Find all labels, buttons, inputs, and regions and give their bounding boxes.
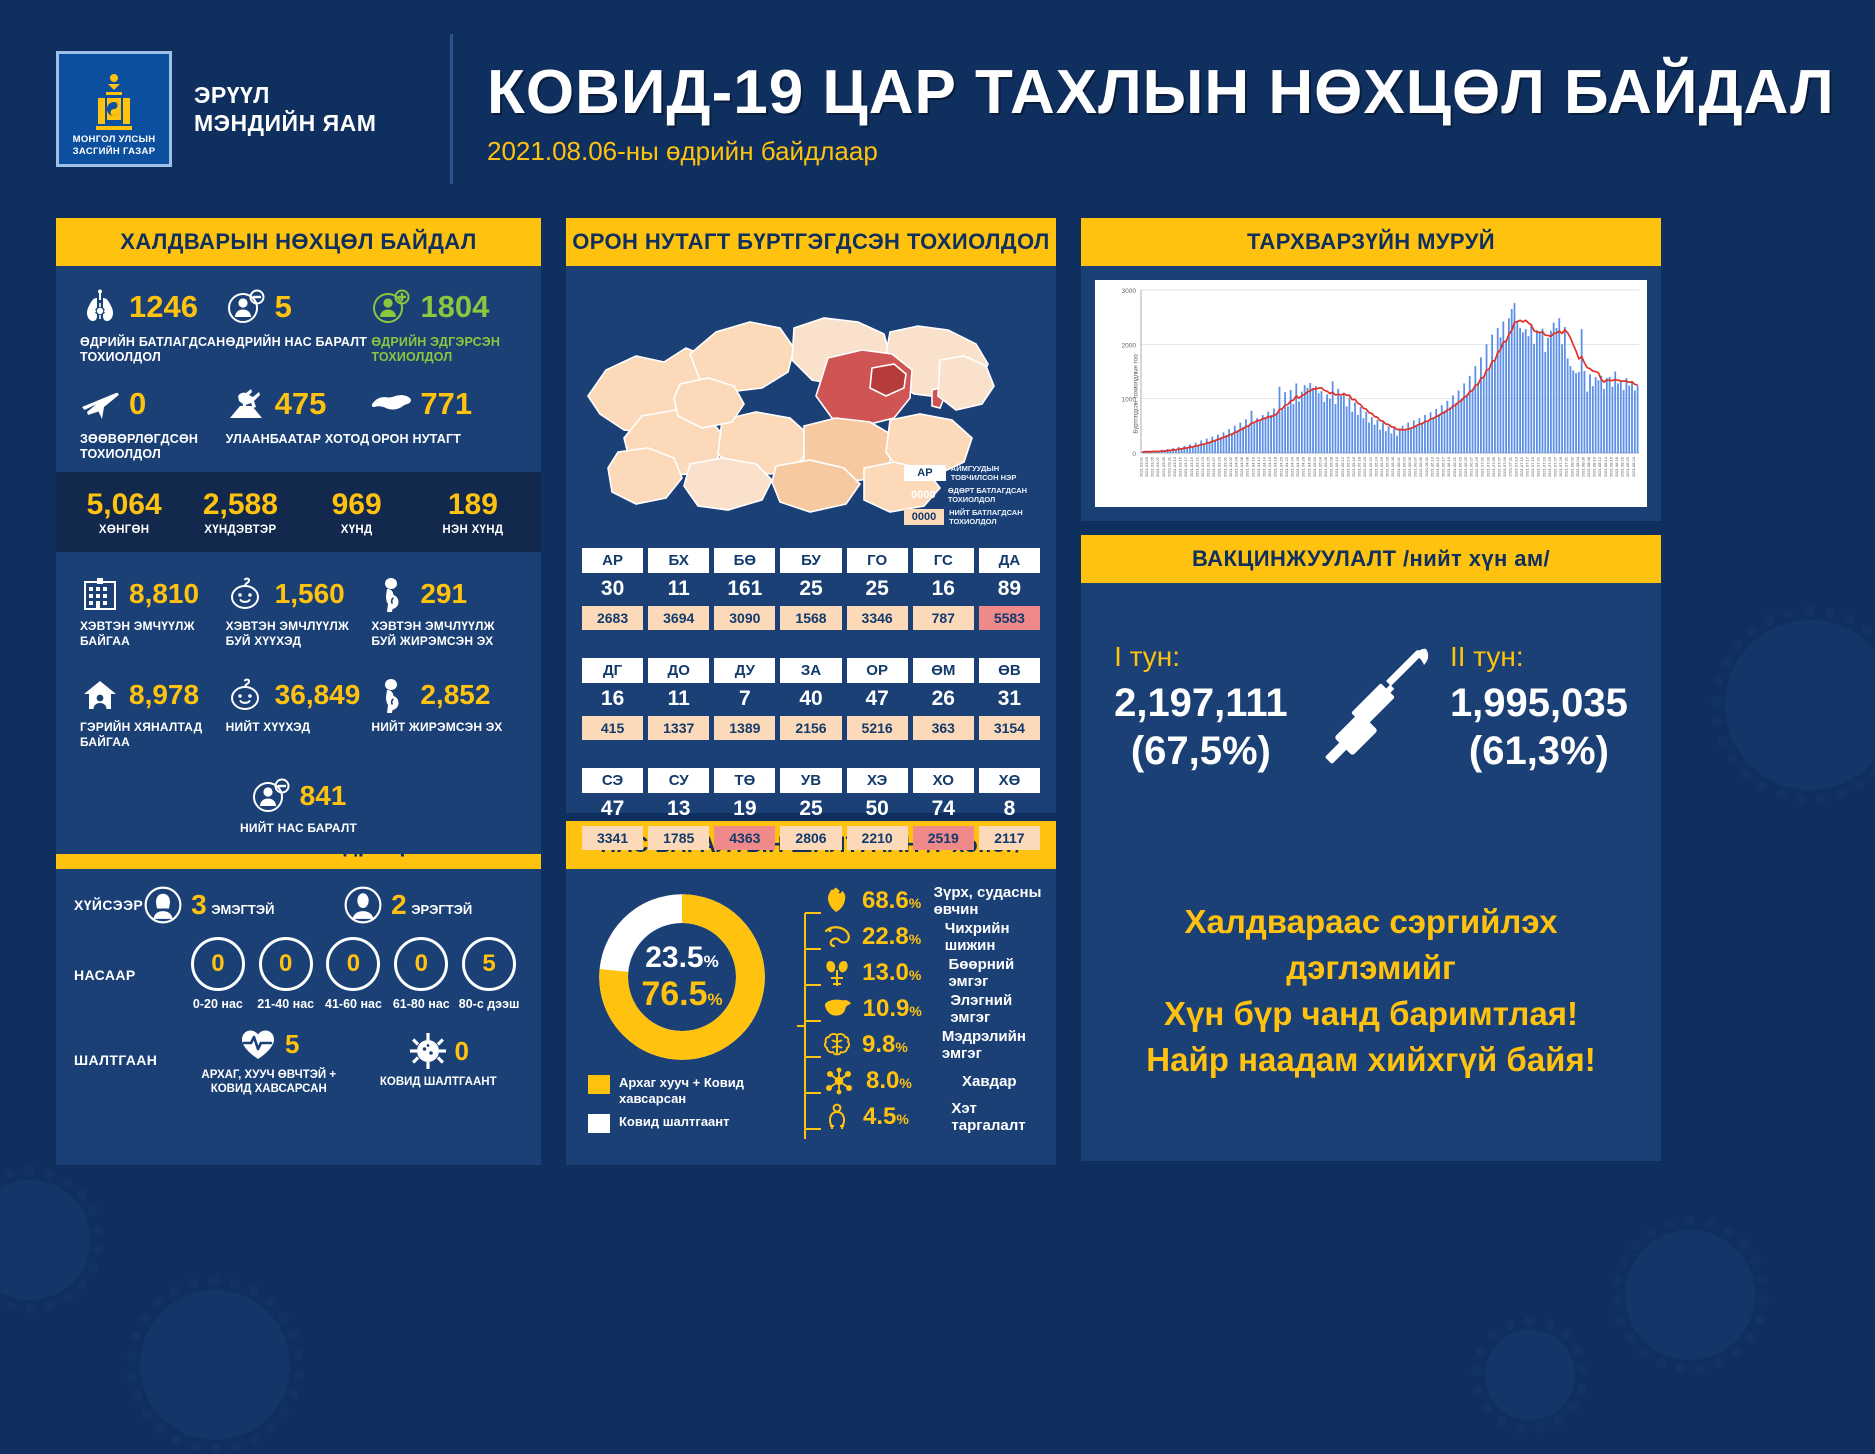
legend-row-total: 0000 НИЙТ БАТЛАГДСАН ТОХИОЛДОЛ	[904, 508, 1044, 526]
svg-text:2021.05.30: 2021.05.30	[1390, 456, 1395, 477]
donut-legend-label-covid: Ковид шалтгаант	[619, 1114, 730, 1130]
province-code: АР	[582, 548, 643, 573]
svg-text:2021.03.07: 2021.03.07	[1155, 456, 1160, 477]
dose-1-block: I тун: 2,197,111 (67,5%)	[1114, 641, 1288, 775]
ulaanbaatar-label: УЛААНБААТАР ХОТОД	[226, 432, 372, 447]
svg-text:2021.05.04: 2021.05.04	[1317, 456, 1322, 477]
person-recovered-icon	[371, 287, 411, 327]
province-total-cases: 4363	[714, 826, 775, 850]
province-code: ДО	[648, 658, 709, 683]
hospitalization-row-1: 8,810 ХЭВТЭН ЭМЧҮҮЛЖ БАЙГАА 1	[80, 574, 517, 649]
male-avatar-icon	[343, 885, 383, 925]
donut-comorbid-unit: %	[708, 990, 723, 1009]
province-daily-cases: 11	[648, 683, 709, 716]
svg-text:2021.03.23: 2021.03.23	[1200, 456, 1205, 477]
svg-text:2021.04.10: 2021.04.10	[1250, 456, 1255, 477]
province-daily-cases: 25	[847, 573, 908, 606]
svg-text:2021.03.17: 2021.03.17	[1183, 456, 1188, 477]
legend-chip-daily: 0000	[904, 487, 943, 503]
age-group-value: 0	[259, 937, 313, 991]
comorbidity-pct: 4.5%	[863, 1103, 941, 1131]
svg-text:2021.04.30: 2021.04.30	[1306, 456, 1311, 477]
svg-text:2021.07.07: 2021.07.07	[1497, 456, 1502, 477]
syringe-icon	[1294, 633, 1444, 783]
daily-confirmed-label: ӨДРИЙН БАТЛАГДСАН ТОХИОЛДОЛ	[80, 335, 226, 365]
provinces-value: 771	[420, 386, 472, 422]
age-group-label: 0-20 нас	[184, 997, 252, 1012]
deaths-male: 2 ЭРЭГТЭЙ	[343, 885, 543, 925]
age-group-value: 5	[462, 937, 516, 991]
ministry-name-line2: МЭНДИЙН ЯАМ	[194, 110, 376, 136]
severity-breakdown: 5,064 ХӨНГӨН 2,588 ХҮНДЭВТЭР 969 ХҮНД 18…	[56, 472, 541, 552]
svg-text:2021.06.27: 2021.06.27	[1469, 456, 1474, 477]
page-subtitle: 2021.08.06-ны өдрийн байдлаар	[487, 136, 1835, 167]
daily-recovered-value: 1804	[420, 289, 489, 325]
pregnant-woman-icon	[371, 574, 411, 614]
province-cell-ГО: ГО253346	[847, 548, 908, 630]
province-total-cases: 1568	[780, 606, 841, 630]
svg-text:2021.04.04: 2021.04.04	[1234, 456, 1239, 477]
svg-text:2021.04.22: 2021.04.22	[1284, 456, 1289, 477]
donut-covid-only-pct: 23.5%	[645, 941, 719, 975]
age-group-label: 80-с дээш	[455, 997, 523, 1012]
deaths-panel-body: ХҮЙСЭЭР 3 ЭМЭГТЭЙ	[56, 869, 541, 1165]
province-daily-cases: 8	[979, 793, 1040, 826]
severity-critical-value: 189	[415, 488, 531, 522]
age-group-value: 0	[191, 937, 245, 991]
infection-panel-title: ХАЛДВАРЫН НӨХЦӨЛ БАЙДАЛ	[56, 218, 541, 266]
donut-wrap: 23.5% 76.5% Архаг хууч + Ковид хавсарсан	[576, 883, 788, 1151]
province-daily-cases: 16	[582, 683, 643, 716]
province-total-cases: 3090	[714, 606, 775, 630]
svg-text:2021.07.17: 2021.07.17	[1524, 456, 1529, 477]
province-cell-ЗА: ЗА402156	[780, 658, 841, 740]
transported-value: 0	[129, 386, 146, 422]
daily-deaths-value: 5	[275, 289, 292, 325]
deaths-female-value: 3	[191, 889, 207, 920]
province-cell-ГС: ГС16787	[913, 548, 974, 630]
bracket-connector	[796, 897, 822, 1155]
age-group-value: 0	[326, 937, 380, 991]
donut-comorbid-value: 76.5	[641, 975, 707, 1013]
total-deaths-label: НИЙТ НАС БАРАЛТ	[194, 821, 404, 836]
donut-legend-item-covid: Ковид шалтгаант	[588, 1114, 788, 1133]
comorbidity-pct-unit: %	[896, 1111, 908, 1127]
province-total-cases: 5583	[979, 606, 1040, 630]
cancer-cells-icon	[822, 1066, 856, 1096]
province-code: ОР	[847, 658, 908, 683]
total-children-label: НИЙТ ХҮҮХЭД	[226, 720, 372, 735]
ministry-name: ЭРҮҮЛ МЭНДИЙН ЯАМ	[194, 81, 376, 137]
svg-text:2021.05.18: 2021.05.18	[1357, 456, 1362, 477]
liver-icon	[822, 994, 853, 1024]
province-total-cases: 3154	[979, 716, 1040, 740]
province-daily-cases: 40	[780, 683, 841, 716]
severity-severe: 969 ХҮНД	[299, 488, 415, 536]
svg-text:2021.06.01: 2021.06.01	[1396, 456, 1401, 477]
cause-comorbid-value: 5	[285, 1029, 299, 1060]
donut-legend-item-comorbid: Архаг хууч + Ковид хавсарсан	[588, 1075, 788, 1107]
svg-text:2021.05.26: 2021.05.26	[1379, 456, 1384, 477]
dashboard-grid: ХАЛДВАРЫН НӨХЦӨЛ БАЙДАЛ	[0, 218, 1875, 1161]
severity-mild-value: 5,064	[66, 488, 182, 522]
province-total-cases: 415	[582, 716, 643, 740]
svg-text:1000: 1000	[1122, 397, 1137, 404]
page-header: МОНГОЛ УЛСЫН ЗАСГИЙН ГАЗАР ЭРҮҮЛ МЭНДИЙН…	[0, 0, 1875, 218]
svg-text:2021.04.02: 2021.04.02	[1228, 456, 1233, 477]
stat-daily-recovered: 1804 ӨДРИЙН ЭДГЭРСЭН ТОХИОЛДОЛ	[371, 284, 517, 365]
svg-text:2021.05.24: 2021.05.24	[1373, 456, 1378, 477]
svg-text:2021.08.22: 2021.08.22	[1625, 456, 1630, 477]
public-message-panel: Халдвараас сэргийлэх дэглэмийг Хүн бүр ч…	[1081, 821, 1661, 1161]
svg-text:2021.08.04: 2021.08.04	[1575, 456, 1580, 477]
virus-gear-icon	[408, 1031, 448, 1071]
dose-2-value: 1,995,035	[1450, 679, 1628, 727]
comorbidity-items: 68.6%Зүрх, судасны өвчин22.8%Чихрийн шиж…	[822, 883, 1046, 1135]
svg-text:2021.03.11: 2021.03.11	[1166, 456, 1171, 476]
hosp-inpatient-label: ХЭВТЭН ЭМЧҮҮЛЖ БАЙГАА	[80, 619, 226, 649]
province-cell-ӨМ: ӨМ26363	[913, 658, 974, 740]
svg-text:2021.07.29: 2021.07.29	[1558, 456, 1563, 477]
daily-recovered-label: ӨДРИЙН ЭДГЭРСЭН ТОХИОЛДОЛ	[371, 335, 517, 365]
province-daily-cases: 161	[714, 573, 775, 606]
svg-text:2021.07.13: 2021.07.13	[1513, 456, 1518, 477]
epi-panel-body: Бүртгэгдсэн тохиолдлын тоо 0100020003000…	[1081, 266, 1661, 521]
comorbidity-name: Хэт таргалалт	[951, 1100, 1046, 1134]
severity-moderate-label: ХҮНДЭВТЭР	[182, 524, 298, 536]
deaths-by-sex-row: ХҮЙСЭЭР 3 ЭМЭГТЭЙ	[74, 885, 523, 925]
svg-text:2021.05.02: 2021.05.02	[1312, 456, 1317, 477]
stat-transported: 0 ЗӨӨВӨРЛӨГДСӨН ТОХИОЛДОЛ	[80, 381, 226, 462]
emblem-caption-line1: МОНГОЛ УЛСЫН	[73, 134, 156, 145]
comorbidity-pct: 13.0%	[862, 959, 938, 987]
svg-text:2021.03.29: 2021.03.29	[1217, 456, 1222, 477]
ministry-name-line1: ЭРҮҮЛ	[194, 82, 270, 108]
legend-text-code: АЙМГУУДЫН ТОВЧИЛСОН НЭР	[951, 464, 1044, 482]
severity-severe-value: 969	[299, 488, 415, 522]
message-line-1: Халдвараас сэргийлэх дэглэмийг	[1184, 903, 1557, 986]
decorative-virus	[0, 1180, 90, 1300]
province-code: СЭ	[582, 768, 643, 793]
provinces-label: ОРОН НУТАГТ	[371, 432, 517, 447]
svg-text:2021.07.11: 2021.07.11	[1508, 456, 1513, 476]
province-cell-ӨВ: ӨВ313154	[979, 658, 1040, 740]
svg-text:2021.08.06: 2021.08.06	[1580, 456, 1585, 477]
hosp-children-value: 1,560	[275, 578, 345, 610]
regional-cases-panel: ОРОН НУТАГТ БҮРТГЭГДСЭН ТОХИОЛДОЛ	[566, 218, 1056, 813]
age-group-2: 041-60 нас	[320, 937, 388, 1012]
svg-text:2021.07.15: 2021.07.15	[1519, 456, 1524, 477]
donut-covid-only-unit: %	[704, 952, 719, 971]
epi-panel-title: ТАРХВАРЗҮЙН МУРУЙ	[1081, 218, 1661, 266]
comorbidity-item-0: 68.6%Зүрх, судасны өвчин	[822, 883, 1046, 919]
total-pregnant-label: НИЙТ ЖИРЭМСЭН ЭХ	[371, 720, 517, 735]
province-total-cases: 2519	[913, 826, 974, 850]
comorbidity-pct-unit: %	[899, 1075, 911, 1091]
emblem-caption-line2: ЗАСГИЙН ГАЗАР	[73, 146, 156, 157]
daily-deaths-panel: НАС БАРАЛТ/өдрөөр/ ХҮЙСЭЭР 3 ЭМЭГТЭЙ	[56, 821, 541, 1161]
epidemic-curve-chart: Бүртгэгдсэн тохиолдлын тоо 0100020003000…	[1095, 280, 1647, 507]
province-code: СУ	[648, 768, 709, 793]
total-pregnant: 2,852 НИЙТ ЖИРЭМСЭН ЭХ	[371, 675, 517, 750]
public-message-text: Халдвараас сэргийлэх дэглэмийг Хүн бүр ч…	[1101, 899, 1641, 1083]
svg-text:2021.05.28: 2021.05.28	[1385, 456, 1390, 477]
comorbidity-item-2: 13.0%Бөөрний эмгэг	[822, 955, 1046, 991]
province-cell-УВ: УВ252806	[780, 768, 841, 850]
baby-face-icon	[226, 574, 266, 614]
province-total-cases: 2210	[847, 826, 908, 850]
death-cause-donut-chart: 23.5% 76.5%	[592, 887, 772, 1067]
svg-text:2021.04.06: 2021.04.06	[1239, 456, 1244, 477]
cause-covid-only-value: 0	[455, 1036, 469, 1067]
svg-text:0: 0	[1132, 451, 1136, 458]
hospitalization-row-2: 8,978 ГЭРИЙН ХЯНАЛТАД БАЙГАА	[80, 675, 517, 750]
severity-mild: 5,064 ХӨНГӨН	[66, 488, 182, 536]
comorbidity-name: Хавдар	[962, 1073, 1017, 1090]
donut-comorbid-pct: 76.5%	[641, 975, 722, 1014]
comorbidity-pct-unit: %	[909, 895, 921, 911]
age-group-label: 61-80 нас	[387, 997, 455, 1012]
hosp-inpatient-value: 8,810	[129, 578, 199, 610]
infection-status-panel: ХАЛДВАРЫН НӨХЦӨЛ БАЙДАЛ	[56, 218, 541, 813]
svg-text:2021.03.03: 2021.03.03	[1144, 456, 1149, 477]
message-line-2: Хүн бүр чанд баримтлая!	[1164, 995, 1578, 1032]
comorbidity-item-5: 8.0%Хавдар	[822, 1063, 1046, 1099]
deaths-male-value: 2	[391, 889, 407, 920]
svg-text:2021.06.13: 2021.06.13	[1429, 456, 1434, 477]
svg-text:2021.08.02: 2021.08.02	[1569, 456, 1574, 477]
total-children-value: 36,849	[275, 679, 361, 711]
person-death-icon	[251, 776, 291, 816]
province-code: ХО	[913, 768, 974, 793]
decorative-virus	[140, 1290, 290, 1440]
svg-text:2021.08.14: 2021.08.14	[1603, 456, 1608, 477]
female-avatar-icon	[143, 885, 183, 925]
svg-text:3000: 3000	[1122, 288, 1137, 295]
age-group-3: 061-80 нас	[387, 937, 455, 1012]
cause-covid-only: 0 КОВИД ШАЛТГААНТ	[354, 1031, 524, 1089]
age-items: 00-20 нас021-40 нас041-60 нас061-80 нас5…	[184, 937, 523, 1012]
hospital-icon	[80, 574, 120, 614]
severity-critical: 189 НЭН ХҮНД	[415, 488, 531, 536]
comorbidity-list: 68.6%Зүрх, судасны өвчин22.8%Чихрийн шиж…	[788, 883, 1046, 1151]
svg-text:2021.04.16: 2021.04.16	[1267, 456, 1272, 477]
province-cell-БӨ: БӨ1613090	[714, 548, 775, 630]
svg-text:2021.07.25: 2021.07.25	[1547, 456, 1552, 477]
total-children: 36,849 НИЙТ ХҮҮХЭД	[226, 675, 372, 750]
ministry-logo-block: МОНГОЛ УЛСЫН ЗАСГИЙН ГАЗАР ЭРҮҮЛ МЭНДИЙН…	[56, 51, 446, 167]
province-cell-БУ: БУ251568	[780, 548, 841, 630]
svg-text:2021.07.23: 2021.07.23	[1541, 456, 1546, 477]
legend-row-code: АР АЙМГУУДЫН ТОВЧИЛСОН НЭР	[904, 464, 1044, 482]
age-group-value: 0	[394, 937, 448, 991]
comorbidity-name: Элэгний эмгэг	[950, 992, 1046, 1026]
province-cell-ДУ: ДУ71389	[714, 658, 775, 740]
svg-text:2021.06.05: 2021.06.05	[1407, 456, 1412, 477]
svg-text:2021.07.31: 2021.07.31	[1564, 456, 1569, 477]
government-emblem: МОНГОЛ УЛСЫН ЗАСГИЙН ГАЗАР	[56, 51, 172, 167]
province-total-cases: 3341	[582, 826, 643, 850]
svg-text:2021.08.18: 2021.08.18	[1614, 456, 1619, 477]
province-total-cases: 363	[913, 716, 974, 740]
comorbidity-item-4: 9.8%Мэдрэлийн эмгэг	[822, 1027, 1046, 1063]
province-daily-cases: 7	[714, 683, 775, 716]
svg-text:2021.04.26: 2021.04.26	[1295, 456, 1300, 477]
svg-text:2021.06.09: 2021.06.09	[1418, 456, 1423, 477]
svg-text:2021.03.01: 2021.03.01	[1138, 456, 1143, 477]
svg-text:2021.05.22: 2021.05.22	[1368, 456, 1373, 477]
daily-deaths-label: ӨДРИЙН НАС БАРАЛТ	[226, 335, 372, 350]
deaths-by-sex-label: ХҮЙСЭЭР	[74, 897, 143, 913]
svg-text:2021.05.20: 2021.05.20	[1362, 456, 1367, 477]
province-code: ХЭ	[847, 768, 908, 793]
severity-moderate-value: 2,588	[182, 488, 298, 522]
lungs-virus-icon	[80, 287, 120, 327]
legend-chip-code: АР	[904, 465, 946, 481]
age-group-4: 580-с дээш	[455, 937, 523, 1012]
vax-panel-body: I тун: 2,197,111 (67,5%) II тун:	[1081, 583, 1661, 833]
stat-provinces: 771 ОРОН НУТАГТ	[371, 381, 517, 462]
province-code: БХ	[648, 548, 709, 573]
svg-text:2021.07.09: 2021.07.09	[1502, 456, 1507, 477]
svg-text:2021.05.10: 2021.05.10	[1334, 456, 1339, 477]
age-group-label: 41-60 нас	[320, 997, 388, 1012]
svg-text:2021.08.24: 2021.08.24	[1631, 456, 1636, 477]
svg-text:2021.07.21: 2021.07.21	[1536, 456, 1541, 477]
province-total-cases: 1785	[648, 826, 709, 850]
province-daily-cases: 19	[714, 793, 775, 826]
comorbidity-pct: 8.0%	[866, 1067, 952, 1095]
svg-text:2021.06.19: 2021.06.19	[1446, 456, 1451, 477]
province-cell-ТӨ: ТӨ194363	[714, 768, 775, 850]
hosp-pregnant-value: 291	[420, 578, 467, 610]
donut-legend-swatch-covid	[588, 1114, 610, 1133]
province-cell-ХЭ: ХЭ502210	[847, 768, 908, 850]
svg-text:2021.06.17: 2021.06.17	[1441, 456, 1446, 477]
message-line-3: Найр наадам хийхгүй байя!	[1146, 1041, 1595, 1078]
dose-2-pct: (61,3%)	[1450, 727, 1628, 775]
svg-text:2021.06.03: 2021.06.03	[1401, 456, 1406, 477]
cause-comorbid: 5 АРХАГ, ХУУЧ ӨВЧТЭЙ + КОВИД ХАВСАРСАН	[184, 1024, 354, 1096]
province-cell-БХ: БХ113694	[648, 548, 709, 630]
hosp-children-label: ХЭВТЭН ЭМЧЛҮҮЛЖ БУЙ ХҮҮХЭД	[226, 619, 372, 649]
age-group-1: 021-40 нас	[252, 937, 320, 1012]
home-monitoring-label: ГЭРИЙН ХЯНАЛТАД БАЙГАА	[80, 720, 226, 750]
svg-text:2021.03.05: 2021.03.05	[1150, 456, 1155, 477]
province-code: ГС	[913, 548, 974, 573]
severity-moderate: 2,588 ХҮНДЭВТЭР	[182, 488, 298, 536]
comorbidity-name: Зүрх, судасны өвчин	[934, 884, 1046, 918]
airplane-icon	[80, 384, 120, 424]
baby-face-icon	[226, 675, 266, 715]
hosp-children: 1,560 ХЭВТЭН ЭМЧЛҮҮЛЖ БУЙ ХҮҮХЭД	[226, 574, 372, 649]
province-total-cases: 2683	[582, 606, 643, 630]
deaths-by-age-row: НАСААР 00-20 нас021-40 нас041-60 нас061-…	[74, 937, 523, 1012]
stat-daily-deaths: 5 ӨДРИЙН НАС БАРАЛТ	[226, 284, 372, 365]
vax-panel-title: ВАКЦИНЖУУЛАЛТ /нийт хүн ам/	[1081, 535, 1661, 583]
province-total-cases: 2117	[979, 826, 1040, 850]
svg-text:2021.06.23: 2021.06.23	[1457, 456, 1462, 477]
province-code: ТӨ	[714, 768, 775, 793]
cause-covid-only-label: КОВИД ШАЛТГААНТ	[354, 1075, 524, 1089]
svg-text:2021.03.27: 2021.03.27	[1211, 456, 1216, 477]
province-daily-cases: 25	[780, 573, 841, 606]
infection-stats-row-1: 1246 ӨДРИЙН БАТЛАГДСАН ТОХИОЛДОЛ	[80, 284, 517, 365]
province-daily-cases: 26	[913, 683, 974, 716]
legend-chip-total: 0000	[904, 509, 944, 525]
brain-icon	[822, 1030, 852, 1060]
comorbidity-pct-unit: %	[895, 1039, 907, 1055]
province-cell-СЭ: СЭ473341	[582, 768, 643, 850]
title-block: КОВИД-19 ЦАР ТАХЛЫН НӨХЦӨЛ БАЙДАЛ 2021.0…	[487, 52, 1835, 167]
province-total-cases: 1337	[648, 716, 709, 740]
deaths-by-cause-label: ШАЛТГААН	[74, 1052, 184, 1068]
chart-svg: 01000200030002021.03.012021.03.032021.03…	[1095, 280, 1647, 507]
comorbidity-name: Чихрийн шижин	[945, 920, 1046, 954]
svg-text:2021.03.09: 2021.03.09	[1161, 456, 1166, 477]
svg-text:2021.03.21: 2021.03.21	[1194, 456, 1199, 477]
donut-legend-label-comorbid: Архаг хууч + Ковид хавсарсан	[619, 1075, 788, 1107]
comorbidity-item-3: 10.9%Элэгний эмгэг	[822, 991, 1046, 1027]
svg-text:2021.05.16: 2021.05.16	[1351, 456, 1356, 477]
province-total-cases: 2156	[780, 716, 841, 740]
svg-text:2021.05.08: 2021.05.08	[1329, 456, 1334, 477]
province-cell-ДГ: ДГ16415	[582, 658, 643, 740]
daily-confirmed-value: 1246	[129, 289, 198, 325]
deaths-female-label: ЭМЭГТЭЙ	[211, 902, 274, 917]
comorbidity-pct: 9.8%	[862, 1031, 932, 1059]
map-panel-title: ОРОН НУТАГТ БҮРТГЭГДСЭН ТОХИОЛДОЛ	[566, 218, 1056, 266]
svg-text:2021.03.31: 2021.03.31	[1222, 456, 1227, 477]
severity-mild-label: ХӨНГӨН	[66, 524, 182, 536]
stat-ulaanbaatar: 475 УЛААНБААТАР ХОТОД	[226, 381, 372, 462]
hosp-pregnant-label: ХЭВТЭН ЭМЧЛҮҮЛЖ БУЙ ЖИРЭМСЭН ЭХ	[371, 619, 517, 649]
svg-text:2021.06.29: 2021.06.29	[1474, 456, 1479, 477]
comorbidity-pct: 10.9%	[863, 995, 941, 1023]
province-total-cases: 3694	[648, 606, 709, 630]
stat-daily-confirmed: 1246 ӨДРИЙН БАТЛАГДСАН ТОХИОЛДОЛ	[80, 284, 226, 365]
home-person-icon	[80, 675, 120, 715]
svg-text:2021.04.18: 2021.04.18	[1273, 456, 1278, 477]
legend-text-daily: ӨДӨРТ БАТЛАГДСАН ТОХИОЛДОЛ	[948, 486, 1044, 504]
province-code: ГО	[847, 548, 908, 573]
comorbidity-item-6: 4.5%Хэт таргалалт	[822, 1099, 1046, 1135]
svg-text:2021.08.10: 2021.08.10	[1592, 456, 1597, 477]
hospitalization-section: 8,810 ХЭВТЭН ЭМЧҮҮЛЖ БАЙГАА 1	[56, 552, 541, 854]
dose-1-label: I тун:	[1114, 641, 1288, 673]
province-daily-cases: 47	[582, 793, 643, 826]
svg-text:2021.03.25: 2021.03.25	[1206, 456, 1211, 477]
legend-text-total: НИЙТ БАТЛАГДСАН ТОХИОЛДОЛ	[949, 508, 1044, 526]
province-grid-row-2: ДГ16415ДО111337ДУ71389ЗА402156ОР475216ӨМ…	[582, 658, 1040, 740]
province-cell-АР: АР302683	[582, 548, 643, 630]
donut-center-labels: 23.5% 76.5%	[592, 887, 772, 1067]
svg-text:2021.05.14: 2021.05.14	[1345, 456, 1350, 477]
home-monitoring: 8,978 ГЭРИЙН ХЯНАЛТАД БАЙГАА	[80, 675, 226, 750]
province-cell-ОР: ОР475216	[847, 658, 908, 740]
province-code: УВ	[780, 768, 841, 793]
svg-text:2021.07.01: 2021.07.01	[1480, 456, 1485, 477]
deaths-female: 3 ЭМЭГТЭЙ	[143, 885, 343, 925]
death-causes-panel: НАС БАРАЛТЫН ШАЛТГААН /7 хоног/ 23.5% 76…	[566, 821, 1056, 1161]
svg-text:2021.07.27: 2021.07.27	[1552, 456, 1557, 477]
province-code: ӨВ	[979, 658, 1040, 683]
deaths-male-label: ЭРЭГТЭЙ	[411, 902, 472, 917]
svg-text:2021.07.05: 2021.07.05	[1491, 456, 1496, 477]
province-cell-ДА: ДА895583	[979, 548, 1040, 630]
svg-text:2021.03.15: 2021.03.15	[1178, 456, 1183, 477]
province-daily-cases: 30	[582, 573, 643, 606]
